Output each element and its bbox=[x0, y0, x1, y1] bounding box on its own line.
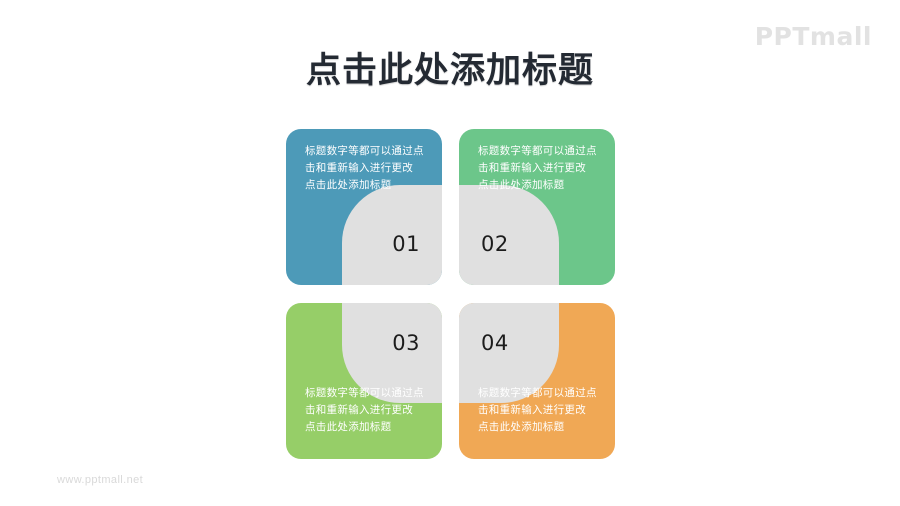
page-title: 点击此处添加标题 bbox=[0, 42, 900, 93]
quadrant-number-02: 02 bbox=[481, 234, 509, 255]
quadrant-text-02[interactable]: 标题数字等都可以通过点击和重新输入进行更改 点击此处添加标题 bbox=[459, 143, 615, 194]
quadrant-card-04[interactable]: 04 标题数字等都可以通过点击和重新输入进行更改 点击此处添加标题 bbox=[459, 303, 615, 459]
quadrant-text-03[interactable]: 标题数字等都可以通过点击和重新输入进行更改 点击此处添加标题 bbox=[286, 385, 442, 436]
quadrant-number-04: 04 bbox=[481, 333, 509, 354]
number-badge-02 bbox=[459, 185, 559, 285]
slide-canvas: PPTmall 点击此处添加标题 01 标题数字等都可以通过点击和重新输入进行更… bbox=[0, 0, 900, 506]
quadrant-card-01[interactable]: 01 标题数字等都可以通过点击和重新输入进行更改 点击此处添加标题 bbox=[286, 129, 442, 285]
quadrant-card-02[interactable]: 02 标题数字等都可以通过点击和重新输入进行更改 点击此处添加标题 bbox=[459, 129, 615, 285]
quadrant-text-04[interactable]: 标题数字等都可以通过点击和重新输入进行更改 点击此处添加标题 bbox=[459, 385, 615, 436]
quadrant-number-03: 03 bbox=[392, 333, 420, 354]
footer-url: www.pptmall.net bbox=[57, 474, 143, 486]
quadrant-number-01: 01 bbox=[392, 234, 420, 255]
quadrant-card-03[interactable]: 03 标题数字等都可以通过点击和重新输入进行更改 点击此处添加标题 bbox=[286, 303, 442, 459]
quadrant-text-01[interactable]: 标题数字等都可以通过点击和重新输入进行更改 点击此处添加标题 bbox=[286, 143, 442, 194]
quadrant-diagram: 01 标题数字等都可以通过点击和重新输入进行更改 点击此处添加标题 02 标题数… bbox=[286, 129, 615, 459]
